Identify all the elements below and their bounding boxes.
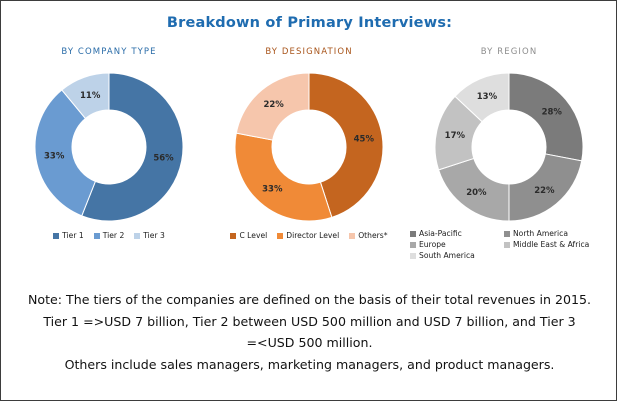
legend-swatch-icon (230, 233, 236, 239)
legend-swatch-icon (349, 233, 355, 239)
note-line: =<USD 500 million. (11, 332, 608, 354)
slice-value-label: 22% (263, 100, 284, 110)
legend-item[interactable]: Director Level (277, 231, 339, 240)
slice-value-label: 28% (542, 108, 563, 118)
legend-item[interactable]: Tier 2 (94, 231, 125, 240)
legend-item[interactable]: C Level (230, 231, 267, 240)
legend-swatch-icon (410, 253, 416, 259)
panel-by-region: BY REGION 28%22%20%17%13% Asia-PacificNo… (409, 47, 609, 260)
legend-item[interactable]: Others* (349, 231, 387, 240)
legend-swatch-icon (53, 233, 59, 239)
slice-value-label: 33% (262, 185, 283, 195)
page-title: Breakdown of Primary Interviews: (1, 15, 617, 31)
slice-value-label: 45% (354, 134, 375, 144)
slice-value-label: 17% (445, 131, 466, 141)
legend-item[interactable]: Tier 1 (53, 231, 84, 240)
slice-value-label: 20% (466, 188, 487, 198)
panel-heading-designation: BY DESIGNATION (265, 47, 352, 57)
donut-chart-designation: 45%33%22% (229, 67, 389, 227)
slice-value-label: 56% (153, 153, 174, 163)
infographic-canvas: Breakdown of Primary Interviews: BY COMP… (0, 0, 617, 401)
note-line: Note: The tiers of the companies are def… (11, 289, 608, 311)
legend-company-type: Tier 1Tier 2Tier 3 (11, 231, 207, 240)
panel-by-designation: BY DESIGNATION 45%33%22% C LevelDirector… (209, 47, 409, 260)
note-line: Others include sales managers, marketing… (11, 354, 608, 376)
slice-value-label: 11% (80, 91, 101, 101)
legend-item[interactable]: Tier 3 (134, 231, 165, 240)
slice-value-label: 13% (477, 92, 498, 102)
legend-swatch-icon (277, 233, 283, 239)
legend-label: Tier 1 (62, 231, 84, 240)
note-line: Tier 1 =>USD 7 billion, Tier 2 between U… (11, 311, 608, 333)
legend-label: North America (513, 229, 568, 238)
legend-item[interactable]: Europe (410, 240, 502, 249)
slice-value-label: 22% (534, 186, 555, 196)
legend-label: Director Level (286, 231, 339, 240)
legend-swatch-icon (410, 242, 416, 248)
donut-slice (235, 133, 332, 221)
legend-swatch-icon (94, 233, 100, 239)
panel-by-company-type: BY COMPANY TYPE 56%33%11% Tier 1Tier 2Ti… (9, 47, 209, 260)
legend-swatch-icon (134, 233, 140, 239)
chart-panels: BY COMPANY TYPE 56%33%11% Tier 1Tier 2Ti… (9, 47, 610, 260)
legend-designation: C LevelDirector LevelOthers* (211, 231, 407, 240)
legend-label: Asia-Pacific (419, 229, 462, 238)
legend-swatch-icon (504, 242, 510, 248)
legend-label: Tier 2 (103, 231, 125, 240)
donut-chart-company-type: 56%33%11% (29, 67, 189, 227)
panel-heading-region: BY REGION (481, 47, 538, 57)
legend-label: Europe (419, 240, 446, 249)
legend-label: Middle East & Africa (513, 240, 589, 249)
slice-value-label: 33% (44, 152, 65, 162)
legend-label: Others* (358, 231, 387, 240)
legend-label: Tier 3 (143, 231, 165, 240)
legend-item[interactable]: North America (504, 229, 608, 238)
legend-item[interactable]: Middle East & Africa (504, 240, 608, 249)
notes-block: Note: The tiers of the companies are def… (11, 289, 608, 376)
donut-chart-region: 28%22%20%17%13% (429, 67, 589, 227)
legend-item[interactable]: Asia-Pacific (410, 229, 502, 238)
legend-item[interactable]: South America (410, 251, 502, 260)
legend-swatch-icon (410, 231, 416, 237)
legend-swatch-icon (504, 231, 510, 237)
legend-region: Asia-PacificNorth AmericaEuropeMiddle Ea… (409, 229, 609, 260)
panel-heading-company-type: BY COMPANY TYPE (61, 47, 156, 57)
legend-label: C Level (239, 231, 267, 240)
legend-label: South America (419, 251, 475, 260)
